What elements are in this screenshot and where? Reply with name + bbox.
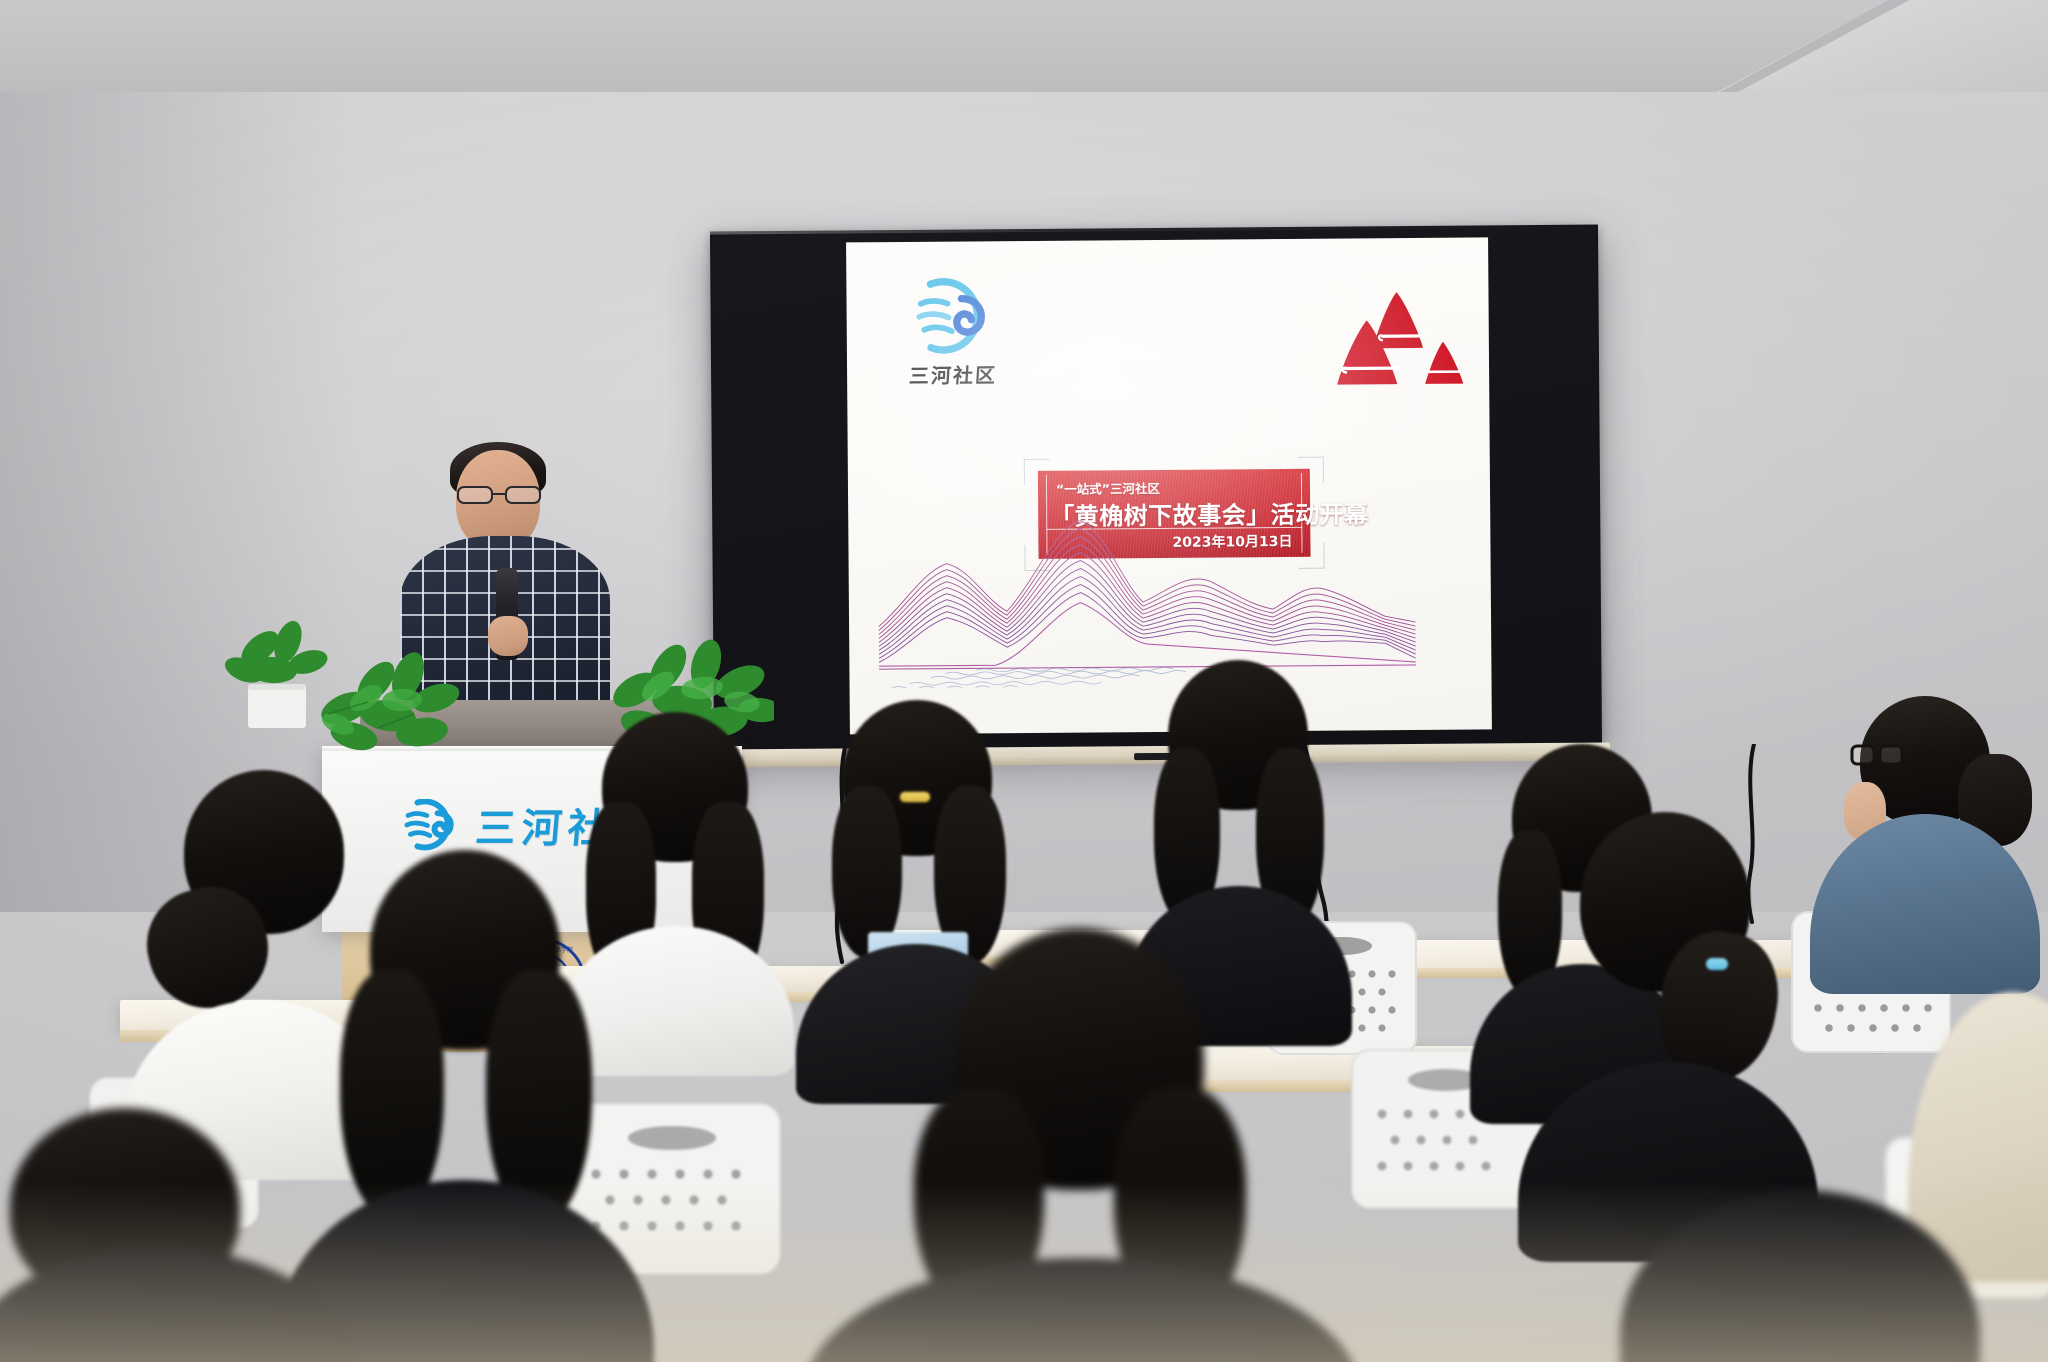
banner-subtitle: “一站式”三河社区	[1056, 478, 1160, 498]
slide-logo-wordmark: 三河社区	[908, 359, 1022, 389]
water-wave-circle-icon	[404, 799, 464, 851]
potted-pothos-plant-icon	[210, 608, 330, 728]
conference-room-photo: 三河社区 “	[0, 0, 2048, 1362]
slide-logo: 三河社区	[908, 277, 1021, 389]
eyeglasses-icon	[1850, 742, 1904, 770]
red-mountain-silhouette-icon	[1336, 286, 1469, 397]
eyeglasses-icon	[456, 484, 542, 506]
floor-light-band	[0, 1182, 2048, 1362]
presenter-hand	[488, 616, 528, 656]
student-right-ponytail-blue-tie	[1538, 812, 1798, 1232]
yellow-hair-clip-icon	[900, 792, 930, 802]
water-wave-circle-icon	[914, 277, 999, 356]
blue-hair-tie-icon	[1706, 958, 1728, 970]
potted-pothos-plant-icon	[318, 636, 468, 766]
